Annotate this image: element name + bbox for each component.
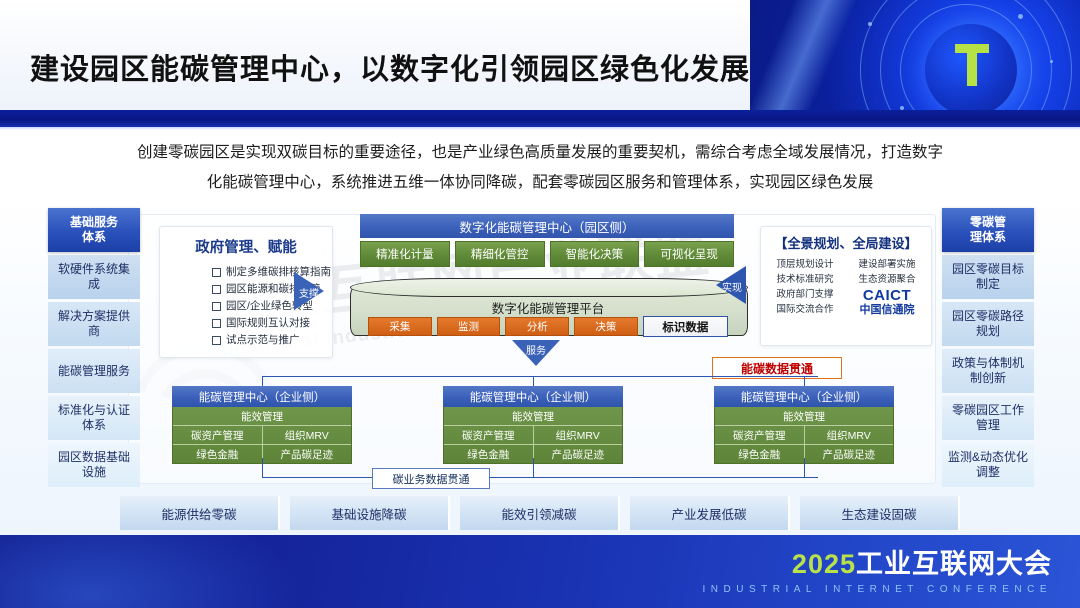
enterprise-3-cell-finance-label: 绿色金融 — [738, 447, 780, 462]
sidebar-left-item-4[interactable]: 标准化与认证体系 — [48, 396, 140, 440]
platform-cell-decide[interactable]: 决策 — [574, 317, 638, 336]
carbon-business-data-label-text: 碳业务数据贯通 — [393, 471, 470, 487]
caict-item-2: 建设部署实施 — [848, 258, 926, 272]
enterprise-box-1: 能碳管理中心（企业侧） 能效管理 碳资产管理 组织MRV 绿色金融 产品碳足迹 — [172, 386, 352, 464]
arrow-support-label: 支撑 — [296, 285, 322, 300]
footer-brand-bar: 2025工业互联网大会 INDUSTRIAL INTERNET CONFEREN… — [0, 535, 1080, 608]
pillar-1[interactable]: 能源供给零碳 — [120, 496, 280, 530]
enterprise-1-row-efficiency-label: 能效管理 — [241, 409, 283, 424]
right-sidebar: 零碳管 理体系 园区零碳目标制定 园区零碳路径规划 政策与体制机制创新 零碳园区… — [942, 208, 1034, 490]
diagram-canvas: 工业互联网产业联盟 Alliance of Industrial Interne… — [0, 200, 1080, 535]
enterprise-1-row-2: 碳资产管理 组织MRV — [173, 426, 351, 445]
enterprise-2-row-2: 碳资产管理 组织MRV — [444, 426, 622, 445]
caict-item-grid: 顶层规划设计 建设部署实施 技术标准研究 生态资源聚合 政府部门支撑 CAICT… — [766, 258, 926, 317]
enterprise-box-2-header: 能碳管理中心（企业侧） — [443, 386, 623, 407]
center-tab-1[interactable]: 精准化计量 — [360, 241, 450, 267]
sidebar-left-header: 基础服务 体系 — [48, 208, 140, 252]
enterprise-3-cell-asset-label: 碳资产管理 — [733, 428, 786, 443]
connector-drop-right — [804, 376, 805, 386]
sidebar-right-item-1[interactable]: 园区零碳目标制定 — [942, 255, 1034, 299]
left-sidebar: 基础服务 体系 软硬件系统集成 解决方案提供商 能碳管理服务 标准化与认证体系 … — [48, 208, 140, 490]
sidebar-right-item-2-label: 园区零碳路径规划 — [948, 309, 1028, 339]
center-header: 数字化能碳管理中心（园区侧） — [360, 214, 734, 238]
enterprise-box-3-body: 能效管理 碳资产管理 组织MRV 绿色金融 产品碳足迹 — [714, 407, 894, 464]
connector-spine — [262, 376, 818, 377]
sidebar-left-item-2[interactable]: 解决方案提供商 — [48, 302, 140, 346]
enterprise-3-cell-asset[interactable]: 碳资产管理 — [715, 426, 805, 444]
pillar-4[interactable]: 产业发展低碳 — [630, 496, 790, 530]
platform-cell-identifier-data[interactable]: 标识数据 — [643, 316, 728, 337]
platform-cell-decide-label: 决策 — [595, 319, 616, 334]
enterprise-2-cell-mrv[interactable]: 组织MRV — [534, 426, 623, 444]
platform-cell-monitor-label: 监测 — [458, 319, 479, 334]
sidebar-left-header-label: 基础服务 体系 — [70, 215, 118, 245]
enterprise-2-cell-footprint[interactable]: 产品碳足迹 — [534, 445, 623, 463]
platform-cylinder: 数字化能碳管理平台 采集 监测 分析 决策 标识数据 — [350, 278, 746, 340]
conference-logo: 2025工业互联网大会 INDUSTRIAL INTERNET CONFEREN… — [703, 548, 1052, 595]
enterprise-1-cell-asset[interactable]: 碳资产管理 — [173, 426, 263, 444]
sidebar-left-item-1-label: 软硬件系统集成 — [54, 262, 134, 292]
sidebar-left-item-3[interactable]: 能碳管理服务 — [48, 349, 140, 393]
enterprise-box-3: 能碳管理中心（企业侧） 能效管理 碳资产管理 组织MRV 绿色金融 产品碳足迹 — [714, 386, 894, 464]
enterprise-1-cell-finance-label: 绿色金融 — [196, 447, 238, 462]
caict-logo-cn: 中国信通院 — [860, 303, 915, 317]
enterprise-2-cell-asset-label: 碳资产管理 — [462, 428, 515, 443]
enterprise-3-row-efficiency-label: 能效管理 — [783, 409, 825, 424]
sidebar-right-item-1-label: 园区零碳目标制定 — [948, 262, 1028, 292]
pillar-3[interactable]: 能效引领减碳 — [460, 496, 620, 530]
enterprise-1-cell-mrv[interactable]: 组织MRV — [263, 426, 352, 444]
caict-item-4: 生态资源聚合 — [848, 273, 926, 287]
platform-cell-collect[interactable]: 采集 — [368, 317, 432, 336]
conference-name-en: INDUSTRIAL INTERNET CONFERENCE — [703, 584, 1052, 595]
government-item-5: 试点示范与推广 — [212, 332, 332, 349]
caict-box: 【全景规划、全局建设】 顶层规划设计 建设部署实施 技术标准研究 生态资源聚合 … — [760, 226, 932, 346]
sidebar-right-item-5[interactable]: 监测&动态优化调整 — [942, 443, 1034, 487]
pillar-5-label: 生态建设固碳 — [841, 504, 916, 523]
platform-cell-collect-label: 采集 — [389, 319, 410, 334]
sidebar-right-item-3-label: 政策与体制机制创新 — [948, 356, 1028, 386]
pillar-5[interactable]: 生态建设固碳 — [800, 496, 960, 530]
platform-cell-analyze[interactable]: 分析 — [505, 317, 569, 336]
enterprise-box-3-header: 能碳管理中心（企业侧） — [714, 386, 894, 407]
government-box-title: 政府管理、赋能 — [160, 236, 332, 257]
caict-box-title: 【全景规划、全局建设】 — [761, 233, 931, 252]
sidebar-right-item-2[interactable]: 园区零碳路径规划 — [942, 302, 1034, 346]
enterprise-box-1-header-label: 能碳管理中心（企业侧） — [199, 389, 326, 405]
pillar-1-label: 能源供给零碳 — [161, 504, 236, 523]
arrow-realize-label: 实现 — [719, 279, 745, 294]
caict-logo: CAICT 中国信通院 — [848, 288, 926, 317]
connector-drop-mid — [533, 376, 534, 386]
caict-item-1: 顶层规划设计 — [766, 258, 844, 272]
enterprise-3-cell-footprint-label: 产品碳足迹 — [823, 447, 876, 462]
arrow-realize-left: 实现 — [716, 266, 746, 304]
sidebar-right-header-label: 零碳管 理体系 — [970, 215, 1006, 245]
title-divider-glow — [0, 127, 1080, 130]
sidebar-left-item-4-label: 标准化与认证体系 — [54, 403, 134, 433]
enterprise-1-cell-finance[interactable]: 绿色金融 — [173, 445, 263, 463]
sidebar-left-item-5[interactable]: 园区数据基础设施 — [48, 443, 140, 487]
sidebar-right-item-4[interactable]: 零碳园区工作管理 — [942, 396, 1034, 440]
enterprise-2-row-efficiency-label: 能效管理 — [512, 409, 554, 424]
platform-cell-row: 采集 监测 分析 决策 标识数据 — [368, 316, 728, 337]
pillar-2-label: 基础设施降碳 — [331, 504, 406, 523]
enterprise-box-3-header-label: 能碳管理中心（企业侧） — [741, 389, 868, 405]
enterprise-box-2: 能碳管理中心（企业侧） 能效管理 碳资产管理 组织MRV 绿色金融 产品碳足迹 — [443, 386, 623, 464]
sidebar-right-item-4-label: 零碳园区工作管理 — [948, 403, 1028, 433]
enterprise-box-2-body: 能效管理 碳资产管理 组织MRV 绿色金融 产品碳足迹 — [443, 407, 623, 464]
decor-dot — [868, 22, 872, 26]
connector-bottom-right — [804, 458, 805, 478]
center-tab-1-label: 精准化计量 — [376, 246, 434, 262]
enterprise-1-cell-asset-label: 碳资产管理 — [191, 428, 244, 443]
caict-item-3: 技术标准研究 — [766, 273, 844, 287]
center-tabs: 精准化计量 精细化管控 智能化决策 可视化呈现 — [360, 241, 734, 267]
enterprise-2-cell-finance-label: 绿色金融 — [467, 447, 509, 462]
connector-bottom-left — [262, 458, 263, 478]
center-tab-3[interactable]: 智能化决策 — [550, 241, 640, 267]
caict-item-6: 国际交流合作 — [766, 303, 844, 317]
cylinder-top — [350, 278, 748, 297]
sidebar-left-item-1[interactable]: 软硬件系统集成 — [48, 255, 140, 299]
connector-bottom-spine — [262, 477, 818, 478]
center-tab-4[interactable]: 可视化呈现 — [644, 241, 734, 267]
enterprise-box-2-header-label: 能碳管理中心（企业侧） — [470, 389, 597, 405]
platform-cell-analyze-label: 分析 — [527, 319, 548, 334]
sidebar-right-item-5-label: 监测&动态优化调整 — [948, 450, 1028, 480]
sidebar-right-item-3[interactable]: 政策与体制机制创新 — [942, 349, 1034, 393]
caict-logo-en: CAICT — [863, 289, 911, 303]
enterprise-1-cell-mrv-label: 组织MRV — [285, 428, 329, 443]
enterprise-3-cell-mrv-label: 组织MRV — [827, 428, 871, 443]
enterprise-3-row-efficiency[interactable]: 能效管理 — [715, 407, 893, 426]
enterprise-2-cell-footprint-label: 产品碳足迹 — [552, 447, 605, 462]
pillar-2[interactable]: 基础设施降碳 — [290, 496, 450, 530]
tech-globe-decoration — [750, 0, 1080, 110]
header-banner: 建设园区能碳管理中心，以数字化引领园区绿色化发展 — [0, 0, 1080, 110]
carbon-business-data-label: 碳业务数据贯通 — [372, 468, 490, 489]
enterprise-2-cell-finance[interactable]: 绿色金融 — [444, 445, 534, 463]
sidebar-left-item-2-label: 解决方案提供商 — [54, 309, 134, 339]
caict-item-5: 政府部门支撑 — [766, 288, 844, 302]
pillar-row: 能源供给零碳 基础设施降碳 能效引领减碳 产业发展低碳 生态建设固碳 — [120, 496, 960, 530]
center-tab-3-label: 智能化决策 — [566, 246, 624, 262]
lead-paragraph: 创建零碳园区是实现双碳目标的重要途径，也是产业绿色高质量发展的重要契机，需综合考… — [58, 138, 1022, 198]
platform-cell-monitor[interactable]: 监测 — [437, 317, 501, 336]
center-header-label: 数字化能碳管理中心（园区侧） — [459, 217, 634, 236]
arrow-service-down: 服务 — [512, 340, 560, 366]
arrow-service-label: 服务 — [512, 342, 560, 357]
decor-dot — [1050, 60, 1053, 63]
enterprise-box-1-header: 能碳管理中心（企业侧） — [172, 386, 352, 407]
decor-dot — [1018, 14, 1023, 19]
conference-year: 2025 — [792, 549, 856, 579]
enterprise-3-cell-footprint[interactable]: 产品碳足迹 — [805, 445, 894, 463]
enterprise-box-1-body: 能效管理 碳资产管理 组织MRV 绿色金融 产品碳足迹 — [172, 407, 352, 464]
callout-label: 能碳数据贯通 — [741, 360, 813, 377]
sidebar-left-item-5-label: 园区数据基础设施 — [54, 450, 134, 480]
title-divider — [0, 110, 1080, 127]
enterprise-2-row-efficiency[interactable]: 能效管理 — [444, 407, 622, 426]
connector-bottom-mid — [533, 458, 534, 478]
enterprise-1-row-efficiency[interactable]: 能效管理 — [173, 407, 351, 426]
enterprise-3-cell-finance[interactable]: 绿色金融 — [715, 445, 805, 463]
platform-label: 数字化能碳管理平台 — [350, 298, 746, 317]
pillar-4-label: 产业发展低碳 — [671, 504, 746, 523]
enterprise-2-cell-mrv-label: 组织MRV — [556, 428, 600, 443]
center-tab-4-label: 可视化呈现 — [660, 246, 718, 262]
center-tab-2-label: 精细化管控 — [471, 246, 529, 262]
enterprise-1-cell-footprint-label: 产品碳足迹 — [281, 447, 334, 462]
enterprise-3-cell-mrv[interactable]: 组织MRV — [805, 426, 894, 444]
lead-line-2: 化能碳管理中心，系统推进五维一体协同降碳，配套零碳园区服务和管理体系，实现园区绿… — [58, 168, 1022, 198]
sidebar-left-item-3-label: 能碳管理服务 — [58, 364, 130, 379]
enterprise-3-row-2: 碳资产管理 组织MRV — [715, 426, 893, 445]
pillar-3-label: 能效引领减碳 — [501, 504, 576, 523]
page-title: 建设园区能碳管理中心，以数字化引领园区绿色化发展 — [30, 46, 750, 88]
center-tab-2[interactable]: 精细化管控 — [455, 241, 545, 267]
enterprise-2-cell-asset[interactable]: 碳资产管理 — [444, 426, 534, 444]
connector-drop-left — [262, 376, 263, 386]
conference-name-cn: 工业互联网大会 — [856, 549, 1052, 579]
lead-line-1: 创建零碳园区是实现双碳目标的重要途径，也是产业绿色高质量发展的重要契机，需综合考… — [58, 138, 1022, 168]
conference-logo-main: 2025工业互联网大会 — [703, 548, 1052, 580]
government-item-4: 国际规则互认对接 — [212, 315, 332, 332]
arrow-support-right: 支撑 — [294, 272, 324, 310]
platform-cell-identifier-data-label: 标识数据 — [662, 319, 708, 335]
t-logo-icon — [955, 44, 989, 86]
enterprise-1-cell-footprint[interactable]: 产品碳足迹 — [263, 445, 352, 463]
sidebar-right-header: 零碳管 理体系 — [942, 208, 1034, 252]
